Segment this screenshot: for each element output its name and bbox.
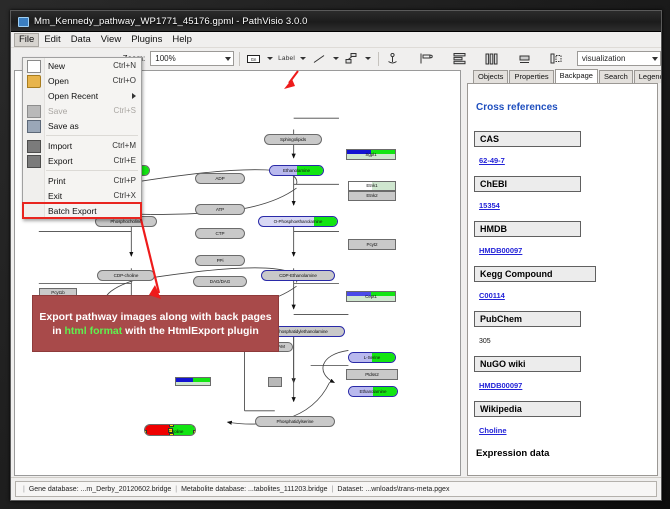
menu-plugins[interactable]: Plugins bbox=[126, 33, 167, 47]
xref-source-label: HMDB bbox=[474, 221, 581, 237]
node-ethanolamine-top[interactable]: Ethanolamine bbox=[269, 165, 324, 176]
xref-value-link[interactable]: HMDB00097 bbox=[479, 381, 522, 390]
node-ctp[interactable]: CTP bbox=[195, 228, 245, 239]
file-menu-save-as-label: Save as bbox=[48, 121, 79, 131]
tab-properties[interactable]: Properties bbox=[509, 70, 553, 83]
expression-data-title: Expression data bbox=[476, 448, 653, 459]
file-menu-batch-export[interactable]: Batch Export bbox=[23, 203, 141, 218]
datanode-icon[interactable]: Gn bbox=[245, 50, 262, 67]
import-icon bbox=[27, 140, 41, 153]
status-dataset: Dataset: ...wnloads\trans-meta.pgex bbox=[337, 486, 449, 493]
align-left-icon[interactable] bbox=[419, 50, 436, 67]
file-menu-export-label: Export bbox=[48, 156, 73, 166]
group-fill-a bbox=[176, 378, 193, 382]
status-metabolite-database: Metabolite database: ...tabolites_111203… bbox=[181, 486, 327, 493]
open-folder-icon bbox=[27, 75, 41, 88]
xref-source-label: ChEBI bbox=[474, 176, 581, 192]
node-dag-dag[interactable]: DAG/DAG bbox=[193, 276, 247, 287]
file-menu-dropdown[interactable]: New Ctrl+N Open Ctrl+O Open Recent Save … bbox=[22, 57, 142, 219]
side-panel-tabs: Objects Properties Backpage Search Legen… bbox=[463, 70, 658, 83]
status-divider: | bbox=[175, 486, 177, 493]
zoom-value: 100% bbox=[155, 54, 175, 63]
anchor-block[interactable] bbox=[268, 377, 282, 387]
label-tool-label[interactable]: Label bbox=[278, 55, 295, 62]
file-menu-open-accel: Ctrl+O bbox=[113, 76, 136, 85]
chevron-down-icon bbox=[225, 57, 231, 61]
menu-file[interactable]: File bbox=[14, 33, 39, 47]
callout-text-highlight: html format bbox=[65, 325, 123, 337]
label-dropdown-icon[interactable] bbox=[300, 57, 306, 60]
file-menu-export[interactable]: Export Ctrl+E bbox=[23, 153, 141, 168]
xref-kegg-compound: Kegg Compound C00114 bbox=[474, 266, 653, 309]
gene-pcyt2[interactable]: Pcyt2 bbox=[348, 239, 396, 250]
xref-cas: CAS 62-49-7 bbox=[474, 131, 653, 174]
save-as-icon bbox=[27, 120, 41, 133]
xref-value-link[interactable]: 15354 bbox=[479, 201, 500, 210]
node-cdp-choline[interactable]: CDP-choline bbox=[97, 270, 155, 281]
menu-help[interactable]: Help bbox=[167, 33, 197, 47]
xref-wikipedia: Wikipedia Choline bbox=[474, 401, 653, 444]
file-menu-new-accel: Ctrl+N bbox=[113, 61, 136, 70]
xref-hmdb: HMDB HMDB00097 bbox=[474, 221, 653, 264]
annotation-callout: Export pathway images along with back pa… bbox=[32, 295, 279, 352]
status-divider: | bbox=[332, 486, 334, 493]
file-menu-open-recent-label: Open Recent bbox=[48, 91, 98, 101]
resize-handle-nw[interactable] bbox=[144, 424, 147, 427]
export-icon bbox=[27, 155, 41, 168]
xref-value-link[interactable]: C00114 bbox=[479, 291, 505, 300]
gene-etnk1[interactable]: Etnk1 bbox=[348, 181, 396, 191]
zoom-combo[interactable]: 100% bbox=[150, 51, 234, 66]
xref-value-link[interactable]: Choline bbox=[479, 426, 507, 435]
xref-source-label: NuGO wiki bbox=[474, 356, 581, 372]
xref-source-label: Wikipedia bbox=[474, 401, 581, 417]
toolbar-divider-2 bbox=[378, 52, 379, 66]
interaction-icon[interactable] bbox=[344, 50, 361, 67]
node-l-serine[interactable]: L-Serine bbox=[348, 352, 396, 363]
node-ppi[interactable]: PPi bbox=[195, 255, 245, 266]
align-stack-icon[interactable] bbox=[451, 50, 468, 67]
chevron-right-icon bbox=[132, 93, 136, 99]
file-menu-export-accel: Ctrl+E bbox=[114, 156, 136, 165]
anchor-icon[interactable] bbox=[384, 50, 401, 67]
file-menu-save-as[interactable]: Save as bbox=[23, 118, 141, 133]
visualization-value: visualization bbox=[582, 54, 626, 63]
status-gene-database: Gene database: ...m_Derby_20120602.bridg… bbox=[29, 486, 171, 493]
file-menu-import[interactable]: Import Ctrl+M bbox=[23, 138, 141, 153]
xref-source-label: CAS bbox=[474, 131, 581, 147]
svg-text:Gn: Gn bbox=[251, 57, 257, 62]
group-marker[interactable] bbox=[175, 377, 211, 386]
backpage-pane: Cross references CAS 62-49-7 ChEBI 15354… bbox=[467, 83, 658, 476]
xref-source-label: Kegg Compound bbox=[474, 266, 596, 282]
file-menu-exit-accel: Ctrl+X bbox=[114, 191, 136, 200]
node-fill-left bbox=[145, 425, 170, 435]
node-o-phosphoethanolamine[interactable]: O-Phosphoethanolamine bbox=[258, 216, 338, 227]
file-menu-save: Save Ctrl+S bbox=[23, 103, 141, 118]
menu-divider bbox=[46, 170, 138, 171]
xref-chebi: ChEBI 15354 bbox=[474, 176, 653, 219]
xref-value-link[interactable]: 62-49-7 bbox=[479, 156, 505, 165]
status-divider: | bbox=[23, 486, 25, 493]
distribute-icon[interactable] bbox=[484, 50, 501, 67]
gene-sgpl1[interactable]: Sgpl1 bbox=[346, 149, 396, 160]
gene-etnk2[interactable]: Etnk2 bbox=[348, 191, 396, 201]
title-bar: Mm_Kennedy_pathway_WP1771_45176.gpml - P… bbox=[11, 11, 661, 32]
gene-cept1[interactable]: Cept1 bbox=[346, 291, 396, 302]
group-icon[interactable] bbox=[548, 50, 565, 67]
cross-references-title: Cross references bbox=[476, 102, 653, 113]
line-icon[interactable] bbox=[311, 50, 328, 67]
xref-value-link[interactable]: HMDB00097 bbox=[479, 246, 522, 255]
file-menu-new[interactable]: New Ctrl+N bbox=[23, 58, 141, 73]
menu-bar: File Edit Data View Plugins Help bbox=[11, 32, 661, 48]
xref-source-label: PubChem bbox=[474, 311, 581, 327]
pathvisio-window: Mm_Kennedy_pathway_WP1771_45176.gpml - P… bbox=[10, 10, 662, 501]
file-menu-batch-export-label: Batch Export bbox=[48, 206, 97, 216]
datanode-dropdown-icon[interactable] bbox=[267, 57, 273, 60]
node-adp[interactable]: ADP bbox=[195, 173, 245, 184]
chevron-down-icon bbox=[652, 57, 658, 61]
file-menu-print-label: Print bbox=[48, 176, 65, 186]
tab-objects[interactable]: Objects bbox=[473, 70, 508, 83]
menu-edit[interactable]: Edit bbox=[39, 33, 65, 47]
file-menu-exit[interactable]: Exit Ctrl+X bbox=[23, 188, 141, 203]
status-bar: | Gene database: ...m_Derby_20120602.bri… bbox=[11, 477, 661, 500]
line-dropdown-icon[interactable] bbox=[333, 57, 339, 60]
node-ethanolamine-bottom[interactable]: Ethanolamine bbox=[348, 386, 398, 397]
file-menu-save-accel: Ctrl+S bbox=[114, 106, 136, 115]
new-file-icon bbox=[27, 60, 41, 73]
file-menu-import-label: Import bbox=[48, 141, 72, 151]
callout-text-after: with the HtmlExport plugin bbox=[122, 325, 259, 337]
file-menu-open[interactable]: Open Ctrl+O bbox=[23, 73, 141, 88]
node-phosphatidylserine[interactable]: Phosphatidylserine bbox=[255, 416, 335, 427]
tab-legend[interactable]: Legend bbox=[634, 70, 662, 83]
menu-divider bbox=[46, 135, 138, 136]
xref-value-text: 305 bbox=[479, 338, 491, 345]
toolbar-divider bbox=[239, 52, 240, 66]
menu-data[interactable]: Data bbox=[66, 33, 96, 47]
file-menu-open-recent[interactable]: Open Recent bbox=[23, 88, 141, 103]
xref-pubchem: PubChem 305 bbox=[474, 311, 653, 354]
file-menu-open-label: Open bbox=[48, 76, 69, 86]
save-disk-icon bbox=[27, 105, 41, 118]
interaction-dropdown-icon[interactable] bbox=[365, 57, 371, 60]
group-fill-b bbox=[193, 378, 210, 382]
file-menu-print-accel: Ctrl+P bbox=[114, 176, 136, 185]
node-choline-selected[interactable]: Choline bbox=[144, 424, 196, 436]
tab-backpage[interactable]: Backpage bbox=[555, 69, 598, 83]
file-menu-print[interactable]: Print Ctrl+P bbox=[23, 173, 141, 188]
file-menu-save-label: Save bbox=[48, 106, 67, 116]
file-menu-exit-label: Exit bbox=[48, 191, 62, 201]
window-title: Mm_Kennedy_pathway_WP1771_45176.gpml - P… bbox=[34, 16, 308, 27]
status-text: | Gene database: ...m_Derby_20120602.bri… bbox=[15, 481, 657, 497]
side-panel: Objects Properties Backpage Search Legen… bbox=[463, 70, 658, 476]
xref-nugo-wiki: NuGO wiki HMDB00097 bbox=[474, 356, 653, 399]
file-menu-import-accel: Ctrl+M bbox=[112, 141, 136, 150]
gene-ptdss2[interactable]: Ptdss2 bbox=[346, 369, 398, 380]
app-icon bbox=[17, 15, 29, 27]
file-menu-new-label: New bbox=[48, 61, 65, 71]
visualization-combo[interactable]: visualization bbox=[577, 51, 661, 66]
node-cdp-ethanolamine[interactable]: CDP-Ethanolamine bbox=[261, 270, 335, 281]
node-atp[interactable]: ATP bbox=[195, 204, 245, 215]
node-sphingolipids[interactable]: Sphingolipids bbox=[264, 134, 322, 145]
size-icon[interactable] bbox=[516, 50, 533, 67]
menu-view[interactable]: View bbox=[96, 33, 126, 47]
tab-search[interactable]: Search bbox=[599, 70, 633, 83]
